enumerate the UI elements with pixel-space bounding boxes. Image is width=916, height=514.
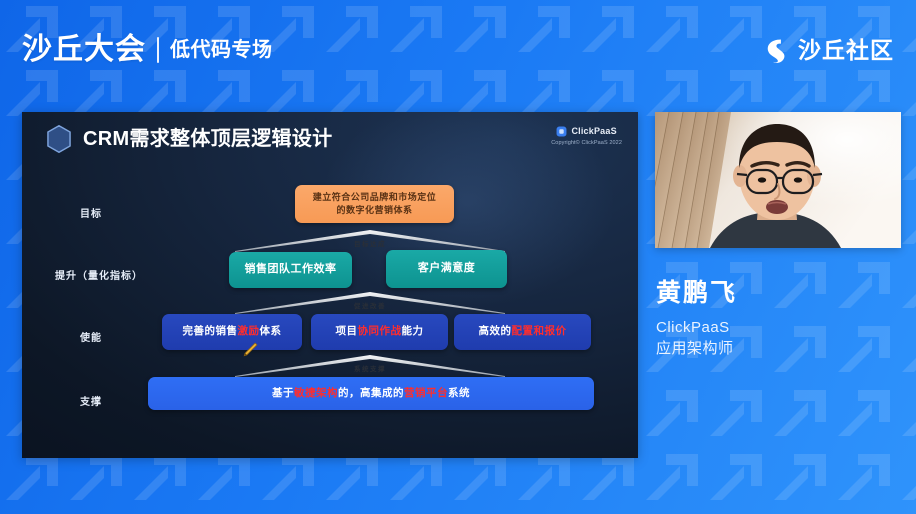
- speaker-role: 应用架构师: [656, 338, 906, 360]
- slide-surface[interactable]: CRM需求整体顶层逻辑设计 ClickPaaS Copyright© Click…: [22, 112, 638, 458]
- speaker-webcam-feed[interactable]: [655, 112, 901, 248]
- speaker-company: ClickPaaS: [656, 317, 906, 339]
- clickpaas-mark-icon: [556, 126, 567, 137]
- enabler-3-highlight: 配置和报价: [512, 324, 567, 339]
- event-track-label: 低代码专场: [170, 40, 273, 60]
- goal-box[interactable]: 建立符合公司品牌和市场定位 的数字化营销体系: [295, 185, 454, 223]
- connector-caption-2: 促进改善: [235, 300, 505, 310]
- vendor-brand: ClickPaaS Copyright© ClickPaaS 2022: [551, 126, 622, 147]
- community-brand: 沙丘社区: [762, 36, 894, 64]
- row-label-foundation: 支撑: [80, 393, 102, 408]
- enabler-box-1[interactable]: 完善的销售激励体系: [162, 314, 302, 350]
- divider-icon: [157, 37, 159, 63]
- hexagon-icon: [46, 125, 72, 153]
- event-brand: 沙丘大会 低代码专场: [22, 35, 273, 65]
- foundation-post: 系统: [448, 386, 470, 401]
- speaker-name: 黄鹏飞: [656, 280, 906, 308]
- community-name: 沙丘社区: [798, 39, 894, 62]
- enabler-1-pre: 完善的销售: [183, 324, 238, 339]
- enabler-2-post: 能力: [402, 324, 424, 339]
- foundation-pre: 基于: [272, 386, 294, 401]
- enabler-1-highlight: 激励: [238, 324, 260, 339]
- connector-improvement: 促进改善: [235, 292, 505, 314]
- enabler-1-post: 体系: [260, 324, 282, 339]
- row-label-enablers: 使能: [80, 329, 102, 344]
- presentation-stage: 沙丘大会 低代码专场 沙丘社区 CRM需求整体顶层逻辑设计: [0, 0, 916, 514]
- metric-box-2[interactable]: 客户满意度: [386, 250, 507, 288]
- enabler-3-pre: 高效的: [479, 324, 512, 339]
- vendor-copyright: Copyright© ClickPaaS 2022: [551, 141, 622, 147]
- foundation-highlight-2: 营销平台: [404, 386, 448, 401]
- connector-system-support: 系统支撑: [235, 355, 505, 377]
- row-label-metrics: 提升（量化指标）: [55, 267, 143, 282]
- enabler-2-pre: 项目: [336, 324, 358, 339]
- goal-line-1: 建立符合公司品牌和市场定位: [313, 191, 437, 204]
- connector-caption-3: 系统支撑: [235, 363, 505, 373]
- speaker-info: 黄鹏飞 ClickPaaS 应用架构师: [656, 280, 906, 360]
- slide-title: CRM需求整体顶层逻辑设计: [83, 129, 332, 149]
- enabler-2-highlight: 协同作战: [358, 324, 402, 339]
- sandhill-s-logo-icon: [762, 36, 790, 64]
- connector-caption-1: 目标达成: [235, 238, 505, 248]
- enabler-box-2[interactable]: 项目协同作战能力: [311, 314, 448, 350]
- row-label-goal: 目标: [80, 205, 102, 220]
- event-title: 沙丘大会: [22, 35, 146, 65]
- enabler-box-3[interactable]: 高效的配置和报价: [454, 314, 591, 350]
- goal-line-2: 的数字化营销体系: [336, 204, 412, 217]
- metric-box-1[interactable]: 销售团队工作效率: [229, 252, 352, 288]
- event-header: 沙丘大会 低代码专场 沙丘社区: [0, 0, 916, 100]
- foundation-box[interactable]: 基于敏捷架构的，高集成的营销平台系统: [148, 377, 594, 410]
- foundation-highlight-1: 敏捷架构: [294, 386, 338, 401]
- connector-goal-achievement: 目标达成: [235, 230, 505, 252]
- foundation-mid: 的，高集成的: [338, 386, 404, 401]
- slide-header: CRM需求整体顶层逻辑设计: [46, 125, 332, 153]
- vendor-name: ClickPaaS: [571, 127, 616, 136]
